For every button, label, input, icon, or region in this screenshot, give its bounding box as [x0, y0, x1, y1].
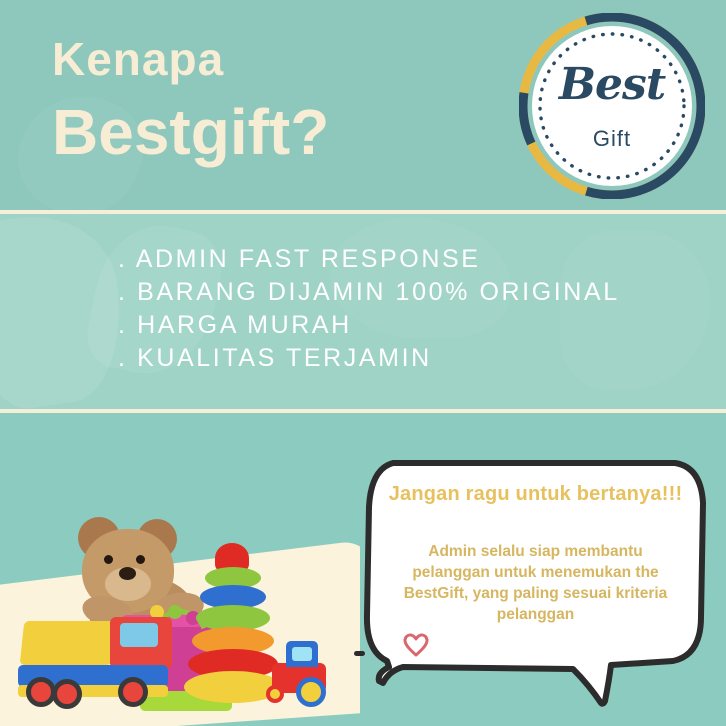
- dump-truck-window: [120, 623, 158, 647]
- dump-truck-bed: [20, 621, 117, 665]
- toy-wheel: [118, 677, 148, 707]
- list-item: . BARANG DIJAMIN 100% ORIGINAL: [118, 276, 620, 309]
- list-item: . ADMIN FAST RESPONSE: [118, 243, 620, 276]
- divider-line-top: [0, 210, 726, 214]
- speech-bubble: Jangan ragu untuk bertanya!!! Admin sela…: [363, 455, 708, 710]
- list-item: . KUALITAS TERJAMIN: [118, 342, 620, 375]
- brand-badge: Best Gift: [519, 13, 705, 199]
- promo-poster: Kenapa Bestgift? Best Gift . ADMIN FAST …: [0, 0, 726, 726]
- badge-brand-sub: Gift: [519, 126, 705, 152]
- toys-photo: [0, 505, 360, 726]
- toy-wheel: [52, 679, 82, 709]
- badge-brand-script: Best: [519, 59, 705, 110]
- page-title-small: Kenapa: [52, 36, 224, 82]
- toy-wheel: [266, 685, 284, 703]
- toy-wheel: [296, 677, 326, 707]
- benefits-list: . ADMIN FAST RESPONSE . BARANG DIJAMIN 1…: [118, 243, 620, 375]
- heart-icon: [403, 633, 429, 657]
- page-title-large: Bestgift?: [52, 100, 329, 164]
- list-item: . HARGA MURAH: [118, 309, 620, 342]
- divider-line-bottom: [0, 409, 726, 413]
- teddy-bear-eye: [104, 555, 113, 564]
- teddy-bear-nose: [119, 567, 136, 580]
- bubble-body-text: Admin selalu siap membantu pelanggan unt…: [389, 541, 682, 625]
- bead: [168, 605, 182, 619]
- bubble-accent-mark: [354, 651, 365, 656]
- toy-tractor-window: [292, 647, 312, 661]
- teddy-bear-eye: [136, 555, 145, 564]
- bubble-headline: Jangan ragu untuk bertanya!!!: [363, 483, 708, 506]
